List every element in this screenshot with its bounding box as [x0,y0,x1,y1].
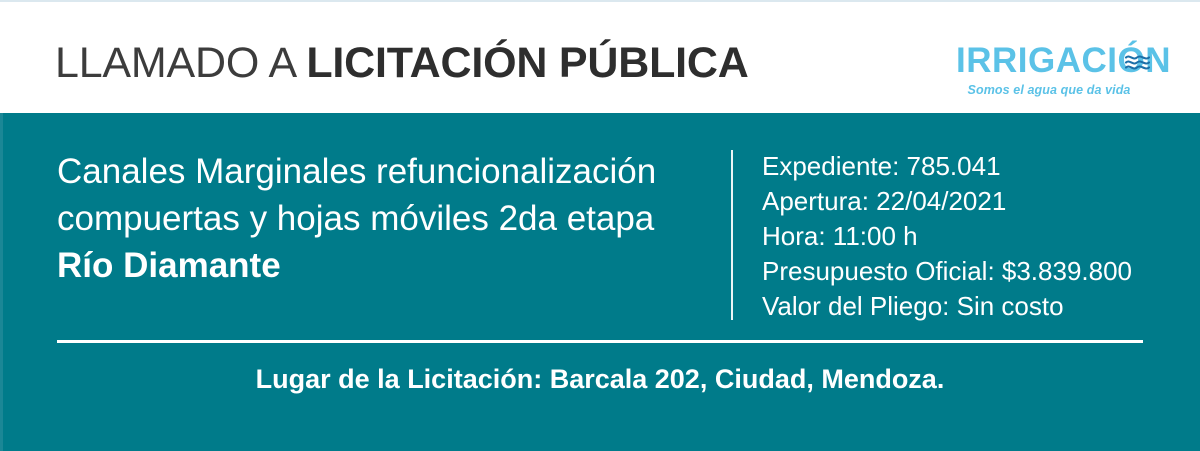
horizontal-divider [57,340,1143,343]
logo-wordmark-text: IRRIGACIÓN [956,41,1171,80]
vertical-divider [731,150,733,320]
detail-valor-pliego: Valor del Pliego: Sin costo [762,289,1162,324]
tender-details-list: Expediente: 785.041 Apertura: 22/04/2021… [762,149,1162,324]
header-band: LLAMADO A LICITACIÓN PÚBLICA IRRIGACIÓN … [0,2,1200,113]
detail-apertura: Apertura: 22/04/2021 [762,184,1162,219]
page-title-light-part: LLAMADO A [55,39,306,87]
detail-expediente: Expediente: 785.041 [762,149,1162,184]
tender-location-footer: Lugar de la Licitación: Barcala 202, Ciu… [0,361,1200,397]
project-title-line-3: Río Diamante [57,242,717,289]
detail-presupuesto-oficial: Presupuesto Oficial: $3.839.800 [762,254,1162,289]
tender-announcement-banner: LLAMADO A LICITACIÓN PÚBLICA IRRIGACIÓN … [0,0,1200,451]
project-title-line-1: Canales Marginales refuncionalización [57,148,717,195]
project-title: Canales Marginales refuncionalización co… [57,148,717,289]
logo-tagline: Somos el agua que da vida [956,83,1142,98]
page-title-bold-part: LICITACIÓN PÚBLICA [306,39,748,87]
project-title-line-2: compuertas y hojas móviles 2da etapa [57,195,717,242]
left-edge-accent-strip [0,113,3,451]
logo-wordmark-container: IRRIGACIÓN [956,42,1171,80]
irrigacion-logo: IRRIGACIÓN Somos el agua que da vida [956,42,1142,104]
page-title: LLAMADO A LICITACIÓN PÚBLICA [55,38,749,88]
detail-hora: Hora: 11:00 h [762,219,1162,254]
